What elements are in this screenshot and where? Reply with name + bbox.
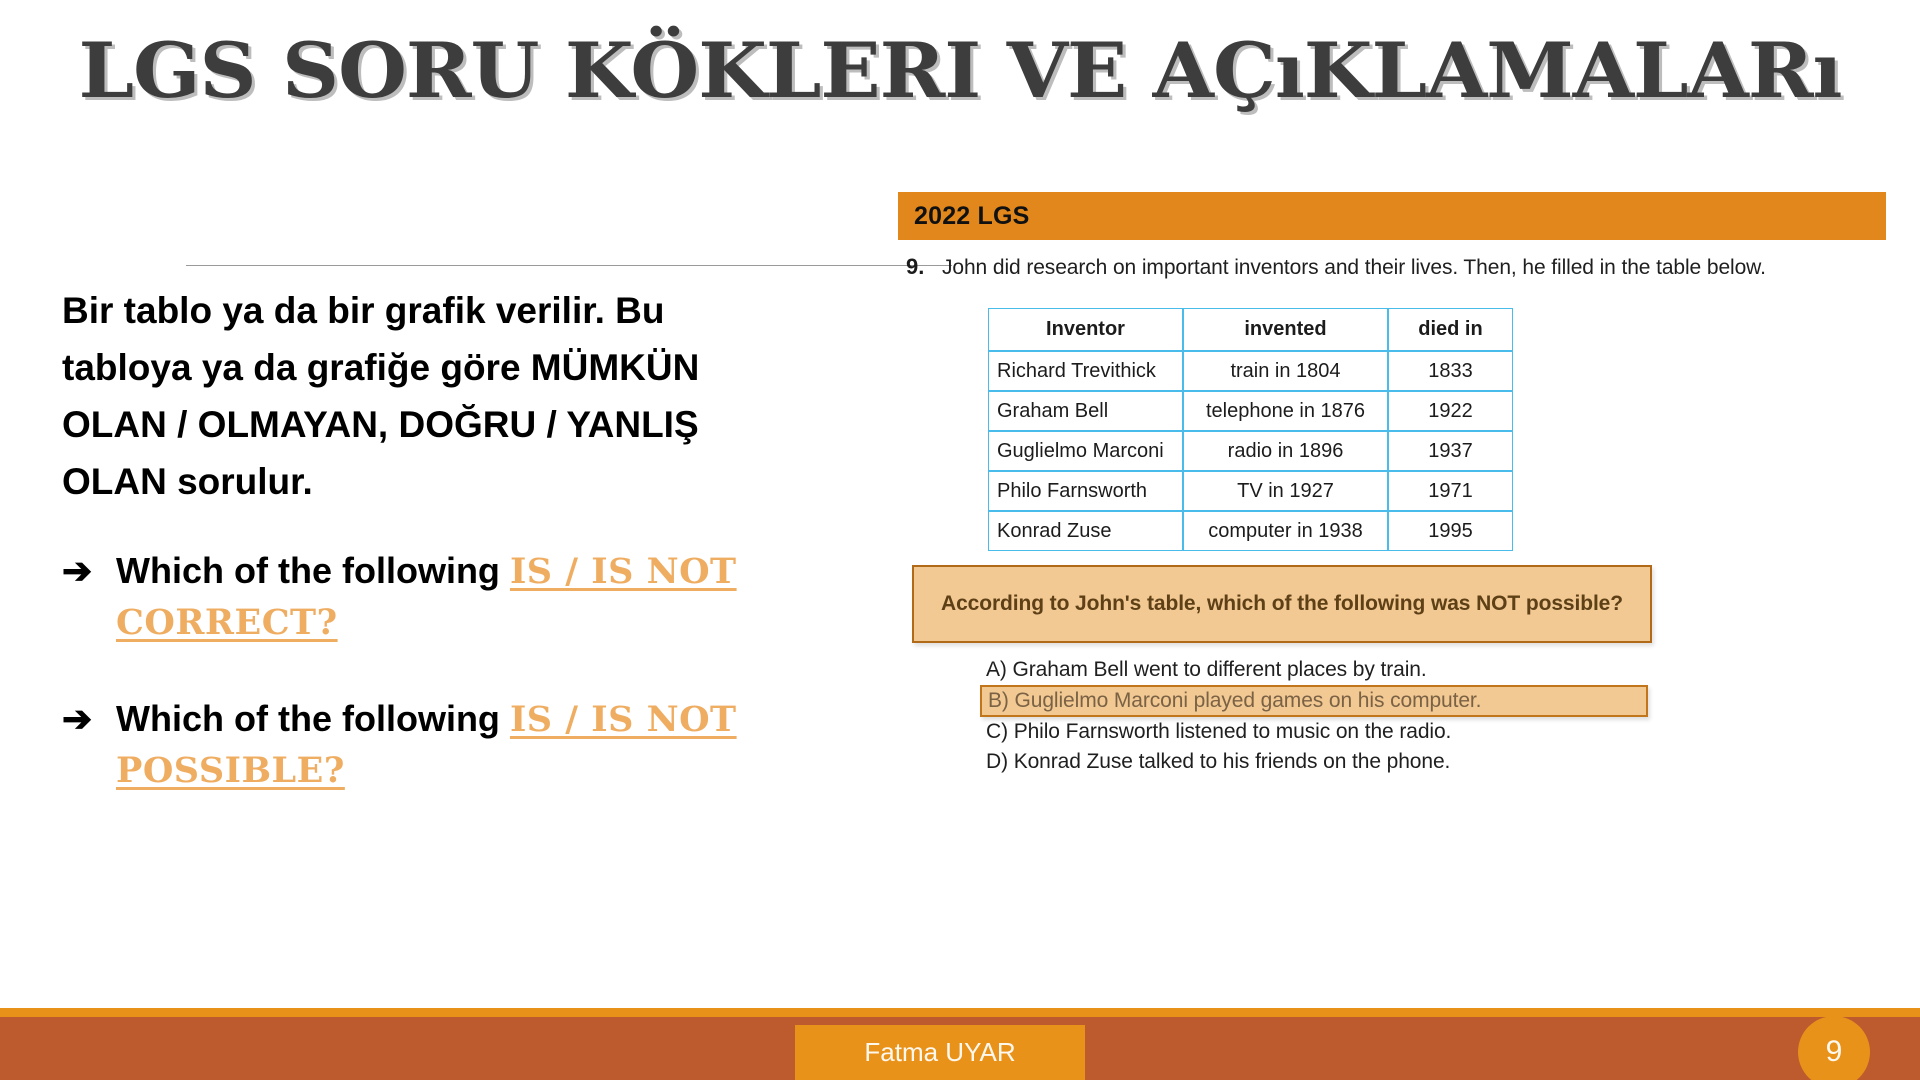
bullet-text: Which of the following IS / IS NOT CORRE… [116,546,832,648]
answer-option-d[interactable]: D) Konrad Zuse talked to his friends on … [986,747,1898,777]
page-title: LGS SORU KÖKLERI VE AÇıKLAMALARı [0,26,1920,116]
table-header-died-in: died in [1388,308,1513,351]
bullet-lead-text: Which of the following [116,698,510,739]
cell-invented: telephone in 1876 [1183,391,1388,431]
cell-invented: radio in 1896 [1183,431,1388,471]
cell-invented: train in 1804 [1183,351,1388,391]
right-content-column: 2022 LGS 9. John did research on importa… [898,192,1898,777]
table-row: Philo Farnsworth TV in 1927 1971 [988,471,1513,511]
page-number: 9 [1826,1035,1843,1069]
page-number-badge: 9 [1798,1016,1870,1080]
inventors-table-container: Inventor invented died in Richard Trevit… [898,308,1898,551]
cell-died-in: 1995 [1388,511,1513,551]
answer-option-c[interactable]: C) Philo Farnsworth listened to music on… [986,717,1898,747]
intro-paragraph: Bir tablo ya da bir grafik verilir. Bu t… [62,282,762,510]
table-row: Richard Trevithick train in 1804 1833 [988,351,1513,391]
cell-invented: TV in 1927 [1183,471,1388,511]
inventors-table: Inventor invented died in Richard Trevit… [988,308,1513,551]
question-callout-text: According to John's table, which of the … [941,592,1623,616]
question-number: 9. [906,254,942,280]
exam-banner: 2022 LGS [898,192,1886,240]
arrow-right-icon: ➔ [62,546,116,596]
cell-died-in: 1937 [1388,431,1513,471]
table-header-inventor: Inventor [988,308,1183,351]
arrow-right-icon: ➔ [62,694,116,744]
cell-inventor: Guglielmo Marconi [988,431,1183,471]
bullet-lead-text: Which of the following [116,550,510,591]
exam-banner-label: 2022 LGS [914,202,1030,231]
horizontal-divider [186,265,952,266]
cell-died-in: 1922 [1388,391,1513,431]
answer-options-list: A) Graham Bell went to different places … [898,655,1898,777]
question-stem-text: John did research on important inventors… [942,256,1766,280]
answer-option-b[interactable]: B) Guglielmo Marconi played games on his… [980,685,1648,717]
slide-canvas: LGS SORU KÖKLERI VE AÇıKLAMALARı Bir tab… [0,0,1920,1080]
question-callout-box: According to John's table, which of the … [912,565,1652,643]
cell-invented: computer in 1938 [1183,511,1388,551]
cell-inventor: Richard Trevithick [988,351,1183,391]
bullet-text: Which of the following IS / IS NOT POSSI… [116,694,832,796]
bullet-item-correct: ➔ Which of the following IS / IS NOT COR… [62,546,832,648]
author-badge: Fatma UYAR [795,1025,1085,1080]
cell-died-in: 1971 [1388,471,1513,511]
table-row: Graham Bell telephone in 1876 1922 [988,391,1513,431]
cell-inventor: Konrad Zuse [988,511,1183,551]
author-name: Fatma UYAR [864,1037,1015,1068]
cell-inventor: Philo Farnsworth [988,471,1183,511]
footer-accent-strip [0,1008,1920,1017]
table-row: Guglielmo Marconi radio in 1896 1937 [988,431,1513,471]
table-header-row: Inventor invented died in [988,308,1513,351]
table-header-invented: invented [1183,308,1388,351]
table-row: Konrad Zuse computer in 1938 1995 [988,511,1513,551]
slide-footer: Fatma UYAR 9 [0,1008,1920,1080]
cell-inventor: Graham Bell [988,391,1183,431]
left-content-column: Bir tablo ya da bir grafik verilir. Bu t… [62,258,902,796]
bullet-item-possible: ➔ Which of the following IS / IS NOT POS… [62,694,832,796]
cell-died-in: 1833 [1388,351,1513,391]
answer-option-a[interactable]: A) Graham Bell went to different places … [986,655,1898,685]
question-stem: 9. John did research on important invent… [898,254,1898,280]
